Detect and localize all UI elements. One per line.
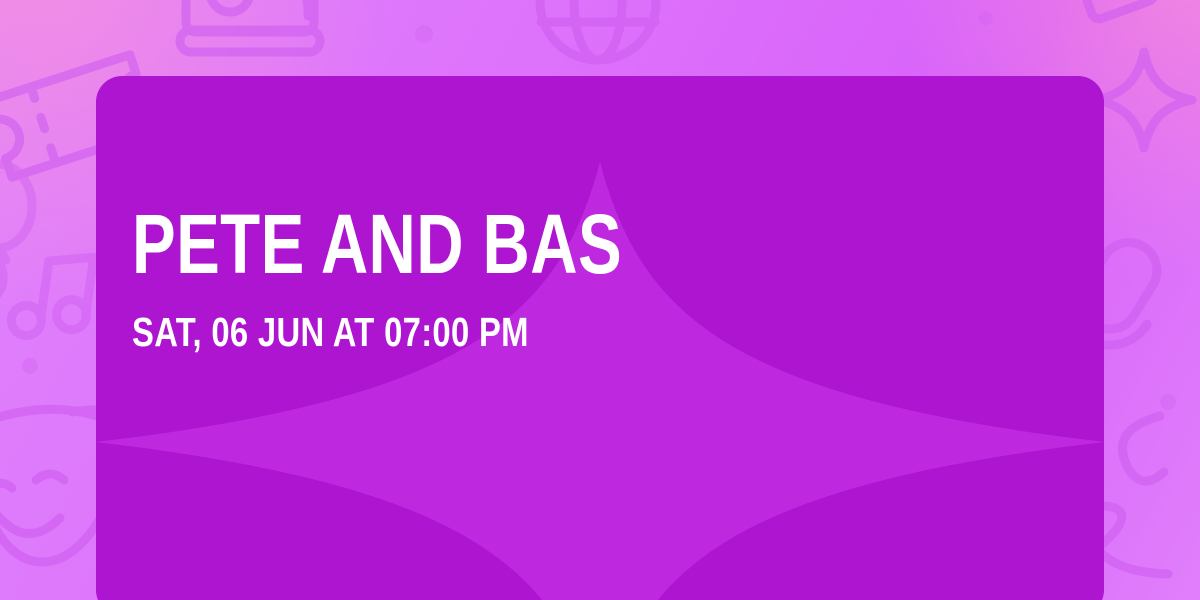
ticket-icon bbox=[1079, 0, 1157, 21]
dj-turntable-icon bbox=[178, 0, 320, 52]
balloon-icon bbox=[0, 164, 32, 298]
disco-globe-icon bbox=[540, 0, 656, 60]
card-text-block: PETE AND BAS SAT, 06 JUN AT 07:00 PM bbox=[132, 208, 1068, 353]
event-datetime: SAT, 06 JUN AT 07:00 PM bbox=[132, 280, 881, 353]
event-banner: PETE AND BAS SAT, 06 JUN AT 07:00 PM bbox=[0, 0, 1200, 600]
event-title: PETE AND BAS bbox=[132, 208, 862, 280]
music-note-icon bbox=[9, 247, 94, 343]
sparkle-icon bbox=[1096, 52, 1192, 148]
event-card[interactable]: PETE AND BAS SAT, 06 JUN AT 07:00 PM bbox=[96, 76, 1104, 600]
